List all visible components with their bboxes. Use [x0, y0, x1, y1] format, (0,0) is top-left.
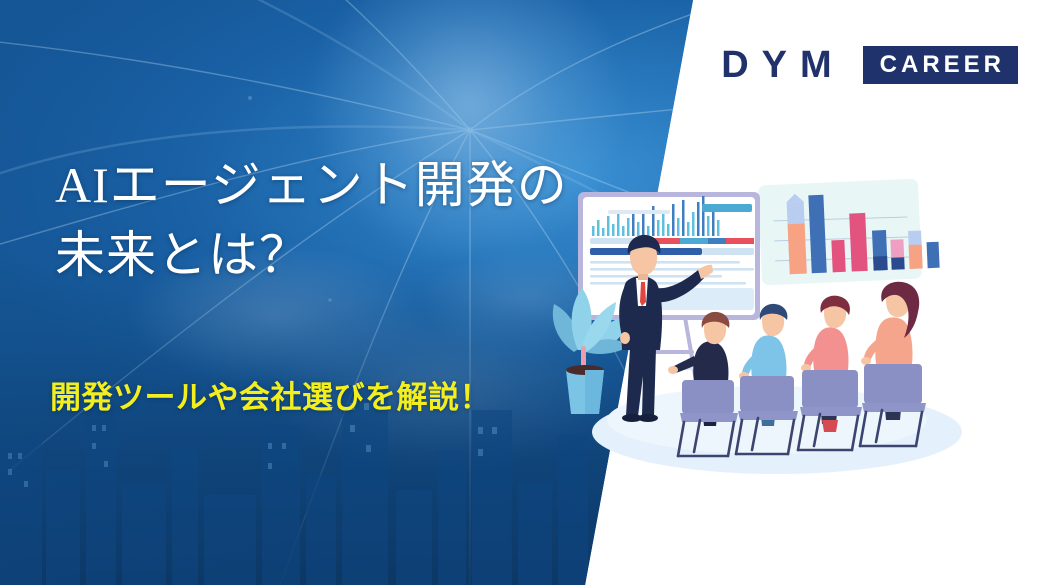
- hero-banner: AIエージェント開発の 未来とは？ 開発ツールや会社選びを解説！ DYM CAR…: [0, 0, 1040, 585]
- business-presentation-illustration: [552, 170, 972, 490]
- page-subtitle: 開発ツールや会社選びを解説！: [50, 378, 491, 418]
- dym-career-logo: DYM CAREER: [719, 46, 1018, 84]
- logo-brand-text: DYM: [719, 46, 844, 84]
- logo-product-badge: CAREER: [863, 46, 1018, 84]
- wall-bar-chart: [758, 179, 940, 286]
- page-title: AIエージェント開発の 未来とは？: [55, 150, 568, 290]
